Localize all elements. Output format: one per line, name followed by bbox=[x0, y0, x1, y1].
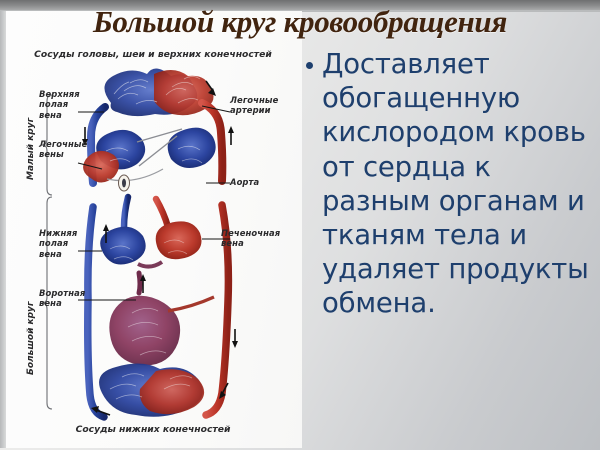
arrow-up-right-upper bbox=[228, 126, 234, 145]
label-nizhnyaya-polaya-vena: Нижняя полая вена bbox=[39, 228, 97, 259]
page-title: Большой круг кровообращения bbox=[0, 0, 600, 44]
label-legochnye-arterii: Легочные артерии bbox=[230, 95, 296, 116]
label-bolshoi-krug: Большой круг bbox=[26, 301, 36, 375]
bullet-list: Доставляет обогащенную кислородом кровь … bbox=[300, 47, 596, 321]
bullet-dot-icon bbox=[306, 62, 313, 69]
heart-and-great-vessels bbox=[83, 103, 222, 227]
bullet-item-text: Доставляет обогащенную кислородом кровь … bbox=[322, 47, 596, 321]
label-verhnyaya-polaya-vena: Верхняя полая вена bbox=[39, 89, 99, 120]
label-vorotnaya-vena: Воротная вена bbox=[39, 288, 99, 309]
label-legochnye-veny: Легочные вены bbox=[39, 139, 101, 160]
label-aorta: Аорта bbox=[230, 177, 290, 187]
liver-portal-capillary-bed bbox=[100, 221, 201, 293]
slide-canvas: Сосуды головы, шеи и верхних конечностей… bbox=[0, 0, 600, 450]
lower-limb-capillary-bed bbox=[99, 363, 204, 416]
caption-upper-vessels: Сосуды головы, шеи и верхних конечностей bbox=[33, 49, 273, 60]
label-pechenochnaya-vena: Печеночная вена bbox=[221, 228, 293, 249]
label-maly-krug: Малый круг bbox=[26, 118, 36, 180]
abdominal-capillary-bed bbox=[109, 296, 214, 366]
upper-capillary-bed bbox=[104, 68, 213, 116]
arrow-down-aorta-lower bbox=[232, 329, 238, 348]
caption-lower-vessels: Сосуды нижних конечностей bbox=[33, 424, 273, 435]
